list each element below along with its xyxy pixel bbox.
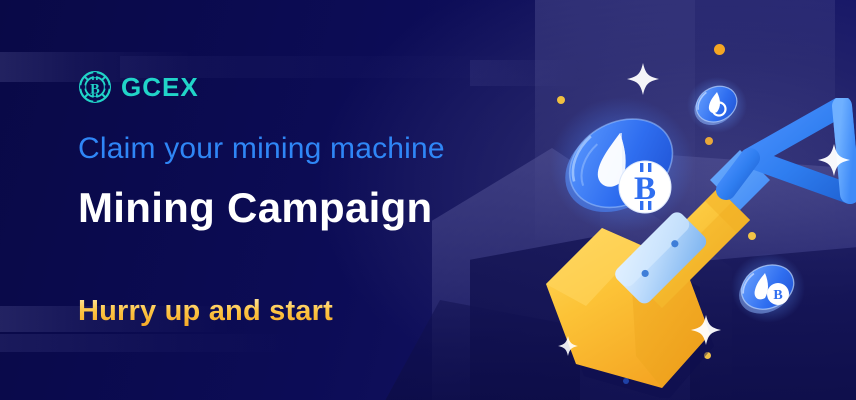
brand-name: GCEX xyxy=(121,74,199,100)
cta-text: Hurry up and start xyxy=(78,296,333,328)
mining-campaign-banner[interactable]: B xyxy=(0,0,856,400)
page-title: Mining Campaign xyxy=(78,185,433,231)
eyebrow-text: Claim your mining machine xyxy=(78,132,445,165)
banner-content: B GCEX Claim your mining machine Mining … xyxy=(78,0,548,400)
bitcoin-coin-icon: B xyxy=(78,70,112,104)
svg-text:B: B xyxy=(90,81,100,97)
brand-logo[interactable]: B GCEX xyxy=(78,70,199,104)
